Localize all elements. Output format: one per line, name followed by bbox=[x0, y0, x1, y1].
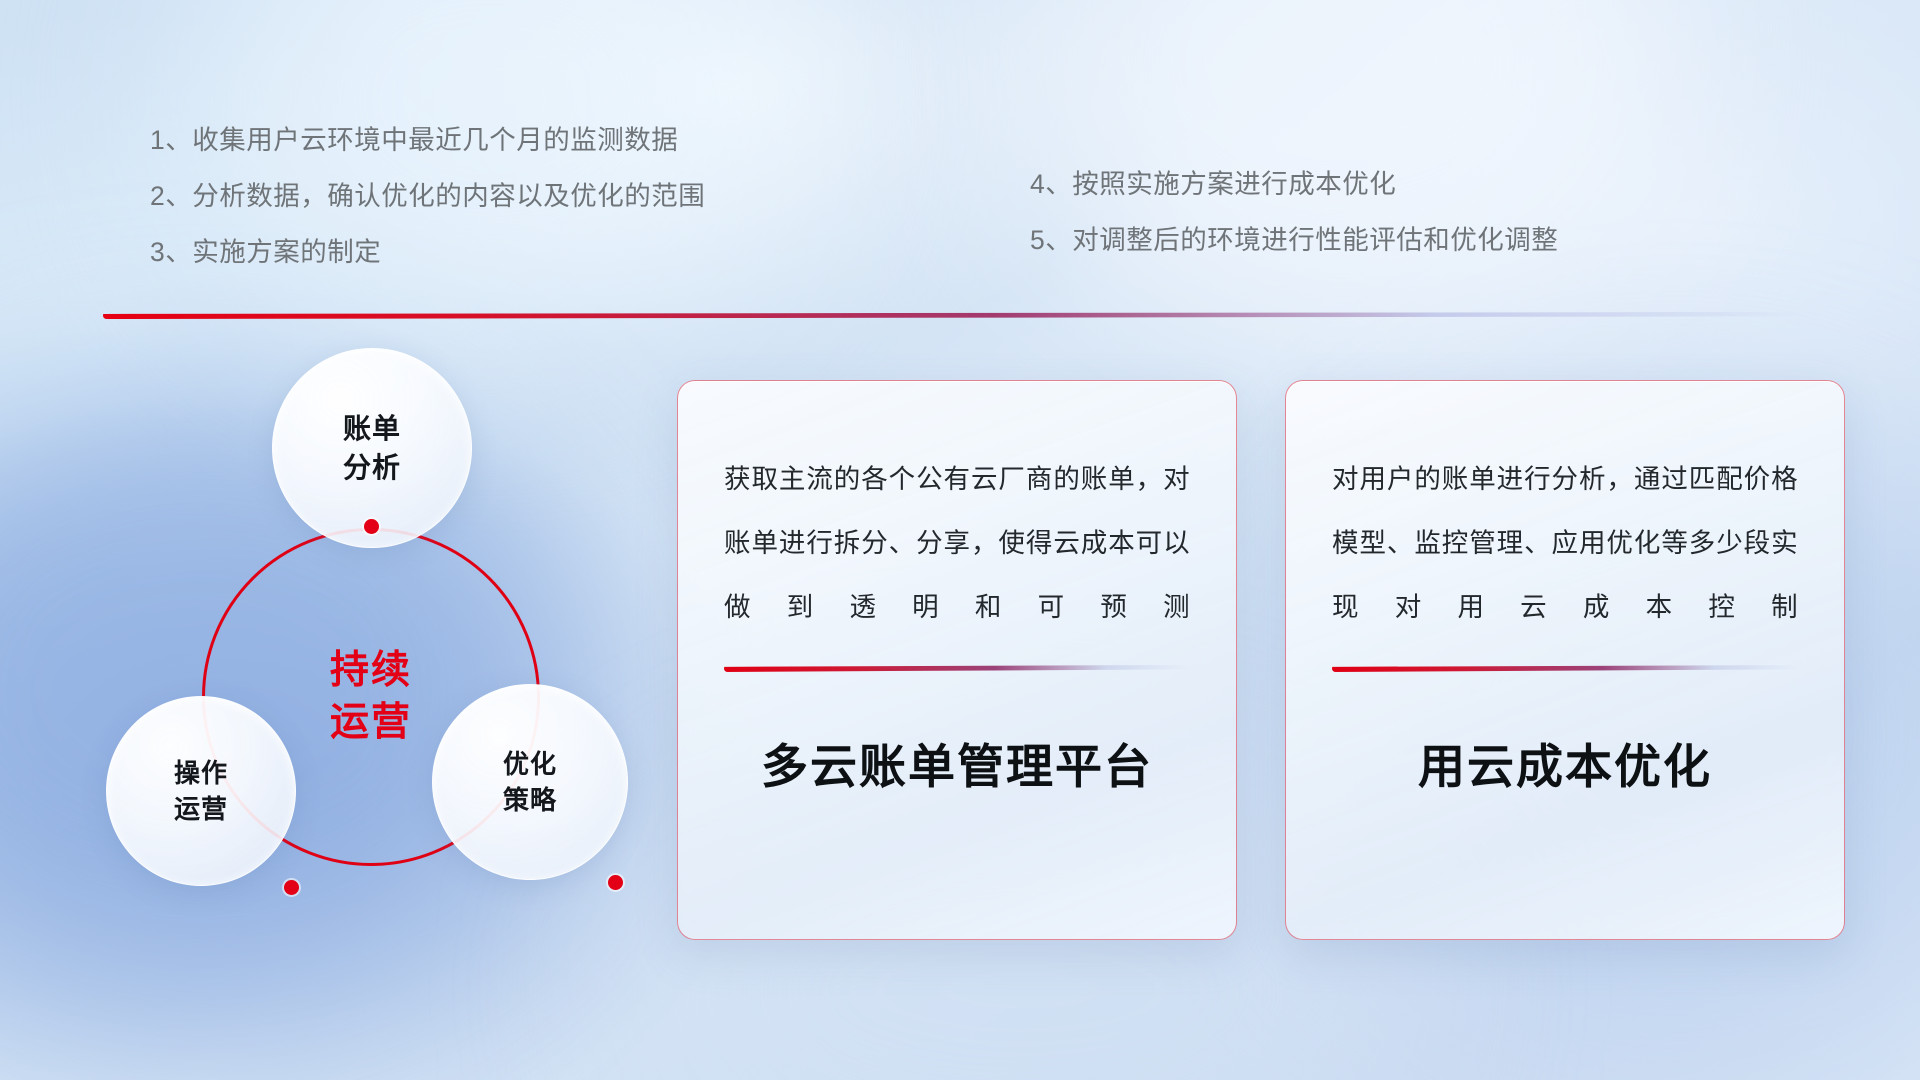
card-multi-cloud-billing-title: 多云账单管理平台 bbox=[724, 728, 1190, 797]
slide-root: 1、收集用户云环境中最近几个月的监测数据 2、分析数据，确认优化的内容以及优化的… bbox=[0, 0, 1920, 1080]
step-item-1: 1、收集用户云环境中最近几个月的监测数据 bbox=[150, 112, 1000, 168]
cycle-node-optimization-strategy-line-2: 策略 bbox=[503, 782, 557, 818]
steps-column-left: 1、收集用户云环境中最近几个月的监测数据 2、分析数据，确认优化的内容以及优化的… bbox=[150, 112, 1000, 280]
card-multi-cloud-billing[interactable]: 获取主流的各个公有云厂商的账单，对账单进行拆分、分享，使得云成本可以做到透明和可… bbox=[677, 380, 1237, 940]
card-cloud-cost-optimization-divider bbox=[1332, 665, 1798, 672]
step-item-2: 2、分析数据，确认优化的内容以及优化的范围 bbox=[150, 168, 1000, 224]
cycle-center-line-2: 运营 bbox=[330, 700, 412, 746]
card-multi-cloud-billing-body: 获取主流的各个公有云厂商的账单，对账单进行拆分、分享，使得云成本可以做到透明和可… bbox=[724, 447, 1190, 639]
cycle-node-operations[interactable]: 操作 运营 bbox=[106, 696, 296, 886]
cycle-node-operations-line-2: 运营 bbox=[174, 791, 228, 827]
card-multi-cloud-billing-divider bbox=[724, 665, 1190, 672]
card-cloud-cost-optimization-body: 对用户的账单进行分析，通过匹配价格模型、监控管理、应用优化等多少段实现对用云成本… bbox=[1332, 447, 1798, 639]
step-item-5: 5、对调整后的环境进行性能评估和优化调整 bbox=[1030, 212, 1780, 268]
step-item-3: 3、实施方案的制定 bbox=[150, 224, 1000, 280]
cycle-node-bill-analysis[interactable]: 账单 分析 bbox=[272, 348, 472, 548]
cycle-node-optimization-strategy[interactable]: 优化 策略 bbox=[432, 684, 628, 880]
cycle-dot-top-icon bbox=[364, 519, 379, 534]
cycle-node-bill-analysis-line-2: 分析 bbox=[343, 448, 401, 487]
cycle-node-bill-analysis-line-1: 账单 bbox=[343, 409, 401, 448]
cycle-node-operations-line-1: 操作 bbox=[174, 755, 228, 791]
card-cloud-cost-optimization-title: 用云成本优化 bbox=[1332, 728, 1798, 797]
cycle-center-line-1: 持续 bbox=[330, 648, 412, 694]
steps-list: 1、收集用户云环境中最近几个月的监测数据 2、分析数据，确认优化的内容以及优化的… bbox=[150, 112, 1780, 280]
card-cloud-cost-optimization[interactable]: 对用户的账单进行分析，通过匹配价格模型、监控管理、应用优化等多少段实现对用云成本… bbox=[1285, 380, 1845, 940]
cycle-diagram: 持续 运营 账单 分析 操作 运营 优化 策略 bbox=[96, 348, 656, 948]
cycle-dot-bottom-left-icon bbox=[284, 880, 299, 895]
main-divider bbox=[103, 312, 1813, 319]
cycle-node-optimization-strategy-line-1: 优化 bbox=[503, 746, 557, 782]
step-item-4: 4、按照实施方案进行成本优化 bbox=[1030, 156, 1780, 212]
cycle-dot-bottom-right-icon bbox=[608, 875, 623, 890]
steps-column-right: 4、按照实施方案进行成本优化 5、对调整后的环境进行性能评估和优化调整 bbox=[1030, 112, 1780, 280]
cards-container: 获取主流的各个公有云厂商的账单，对账单进行拆分、分享，使得云成本可以做到透明和可… bbox=[677, 380, 1845, 940]
